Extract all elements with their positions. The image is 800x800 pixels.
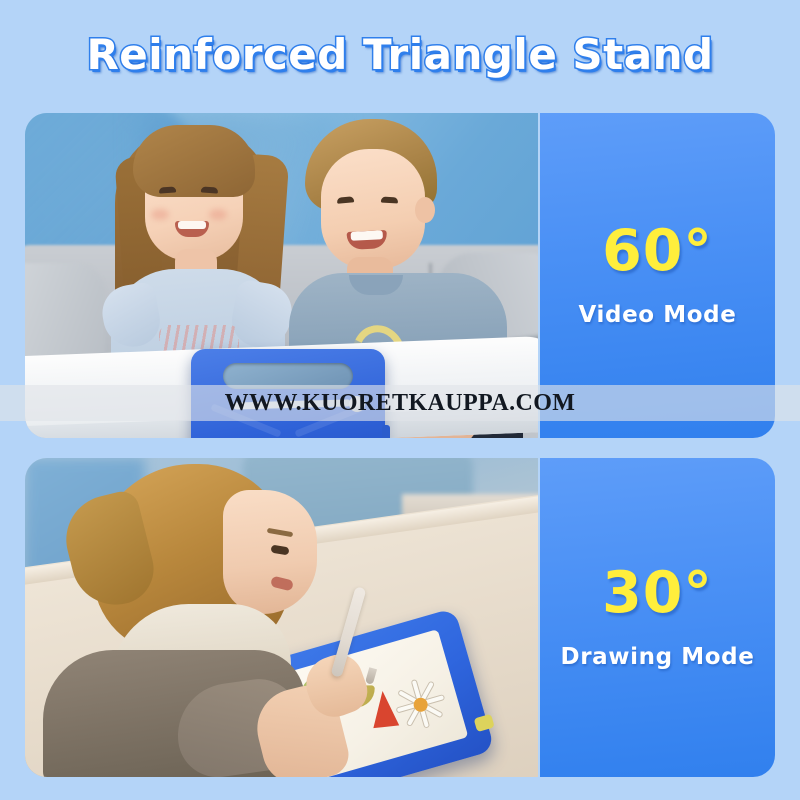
page-title: Reinforced Triangle Stand <box>86 30 713 79</box>
case-side-button <box>382 425 390 438</box>
girl-hair-front <box>133 125 255 197</box>
mode-panel-drawing: 30° Drawing Mode <box>540 458 775 777</box>
girl-cheek-left <box>151 209 169 220</box>
girl-eye-right <box>201 186 218 193</box>
girl-cheek-right <box>209 209 227 220</box>
feature-row-video-mode: 60° Video Mode <box>25 113 775 438</box>
mode-panel-video: 60° Video Mode <box>540 113 775 438</box>
drawing-girl-face-profile <box>223 490 317 614</box>
photo-scene-desk <box>25 458 538 777</box>
artwork-daisy-flower <box>387 670 454 737</box>
case-handle-cutout <box>223 363 353 389</box>
angle-value-video: 60° <box>602 223 713 280</box>
feature-row-drawing-mode: 30° Drawing Mode <box>25 458 775 777</box>
page-header: Reinforced Triangle Stand <box>0 0 800 108</box>
product-photo-drawing-mode <box>25 458 538 777</box>
stylus-pen <box>233 399 351 409</box>
girl-eye-left <box>159 186 176 193</box>
mode-label-drawing: Drawing Mode <box>561 644 755 670</box>
boy-face <box>321 149 425 269</box>
case-rib-right <box>294 403 365 437</box>
angle-value-drawing: 30° <box>602 565 713 622</box>
product-photo-video-mode <box>25 113 538 438</box>
photo-scene-living-room <box>25 113 538 438</box>
blue-tablet-case-rear <box>191 349 385 438</box>
boy-ear <box>415 197 435 223</box>
child-girl-drawing-figure <box>25 464 339 777</box>
boy-eye-right <box>381 197 398 204</box>
mode-label-video: Video Mode <box>579 302 737 328</box>
